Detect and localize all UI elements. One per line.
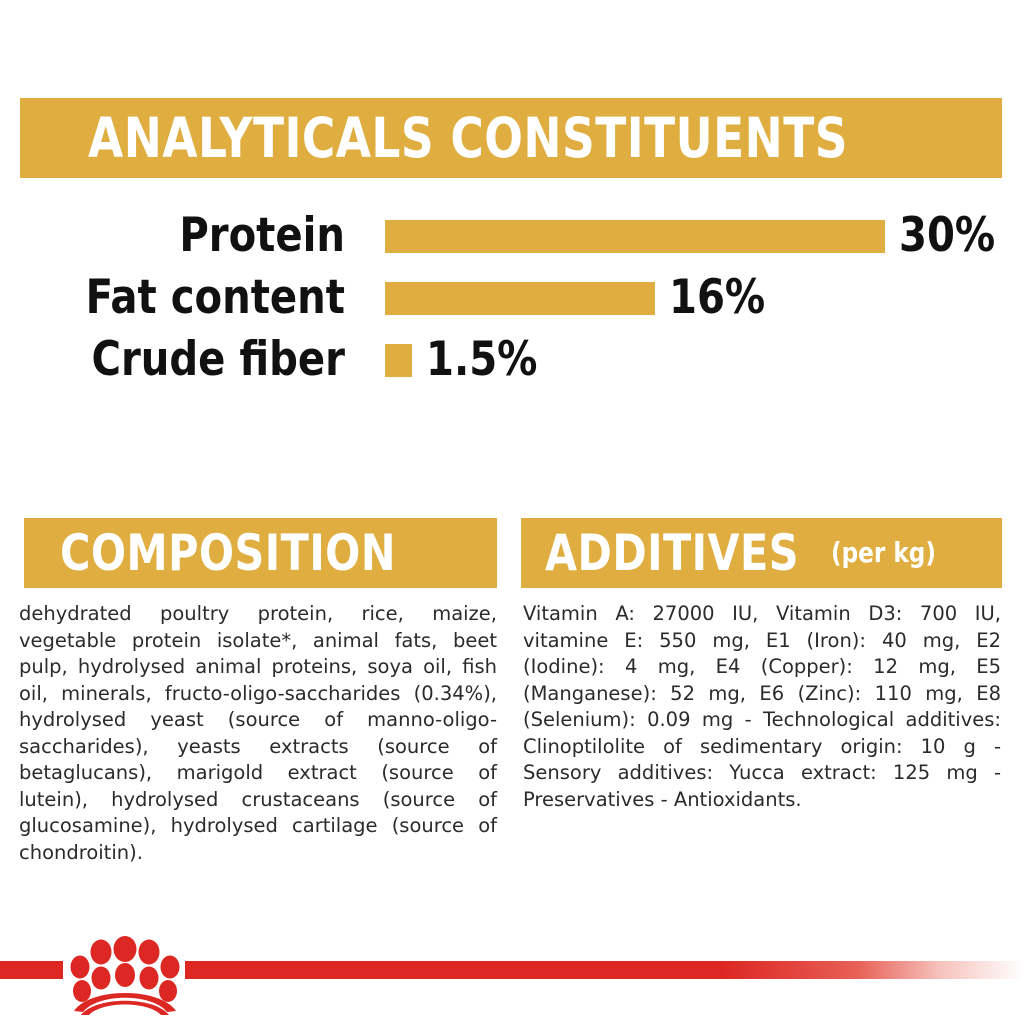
chart-category-label: Protein [17, 211, 345, 261]
additives-title: ADDITIVES [545, 527, 799, 579]
chart-value-label: 30% [899, 211, 995, 261]
chart-bar [385, 220, 885, 253]
chart-bar [385, 282, 655, 315]
analyticals-bar-chart: Protein 30% Fat content 16% Crude fiber … [0, 205, 1024, 395]
chart-bar-group: 16% [385, 273, 770, 323]
chart-value-label: 1.5% [426, 335, 537, 385]
chart-row: Crude fiber 1.5% [0, 331, 1024, 389]
chart-category-label: Fat content [17, 273, 345, 323]
chart-bar-group: 30% [385, 211, 1000, 261]
chart-bar-group: 1.5% [385, 335, 543, 385]
chart-bar [385, 344, 412, 377]
chart-value-label: 16% [669, 273, 765, 323]
additives-body-text: Vitamin A: 27000 IU, Vitamin D3: 700 IU,… [523, 601, 1001, 813]
chart-row: Fat content 16% [0, 269, 1024, 327]
composition-body-text: dehydrated poultry protein, rice, maize,… [19, 601, 497, 866]
chart-category-label: Crude fiber [17, 335, 345, 385]
footer-rule-left [0, 961, 63, 979]
footer-rule-right [185, 961, 1024, 979]
additives-header: ADDITIVES (per kg) [521, 518, 1002, 588]
footer-brand-bar [0, 940, 1024, 1024]
composition-title: COMPOSITION [60, 527, 396, 579]
product-info-panel: ANALYTICALS CONSTITUENTS Protein 30% Fat… [0, 0, 1024, 1024]
analyticals-constituents-header: ANALYTICALS CONSTITUENTS [20, 98, 1002, 178]
royal-canin-crown-icon [68, 935, 182, 1015]
analyticals-constituents-title: ANALYTICALS CONSTITUENTS [88, 110, 848, 166]
chart-row: Protein 30% [0, 207, 1024, 265]
additives-per-kg-note: (per kg) [831, 538, 936, 568]
composition-header: COMPOSITION [24, 518, 497, 588]
